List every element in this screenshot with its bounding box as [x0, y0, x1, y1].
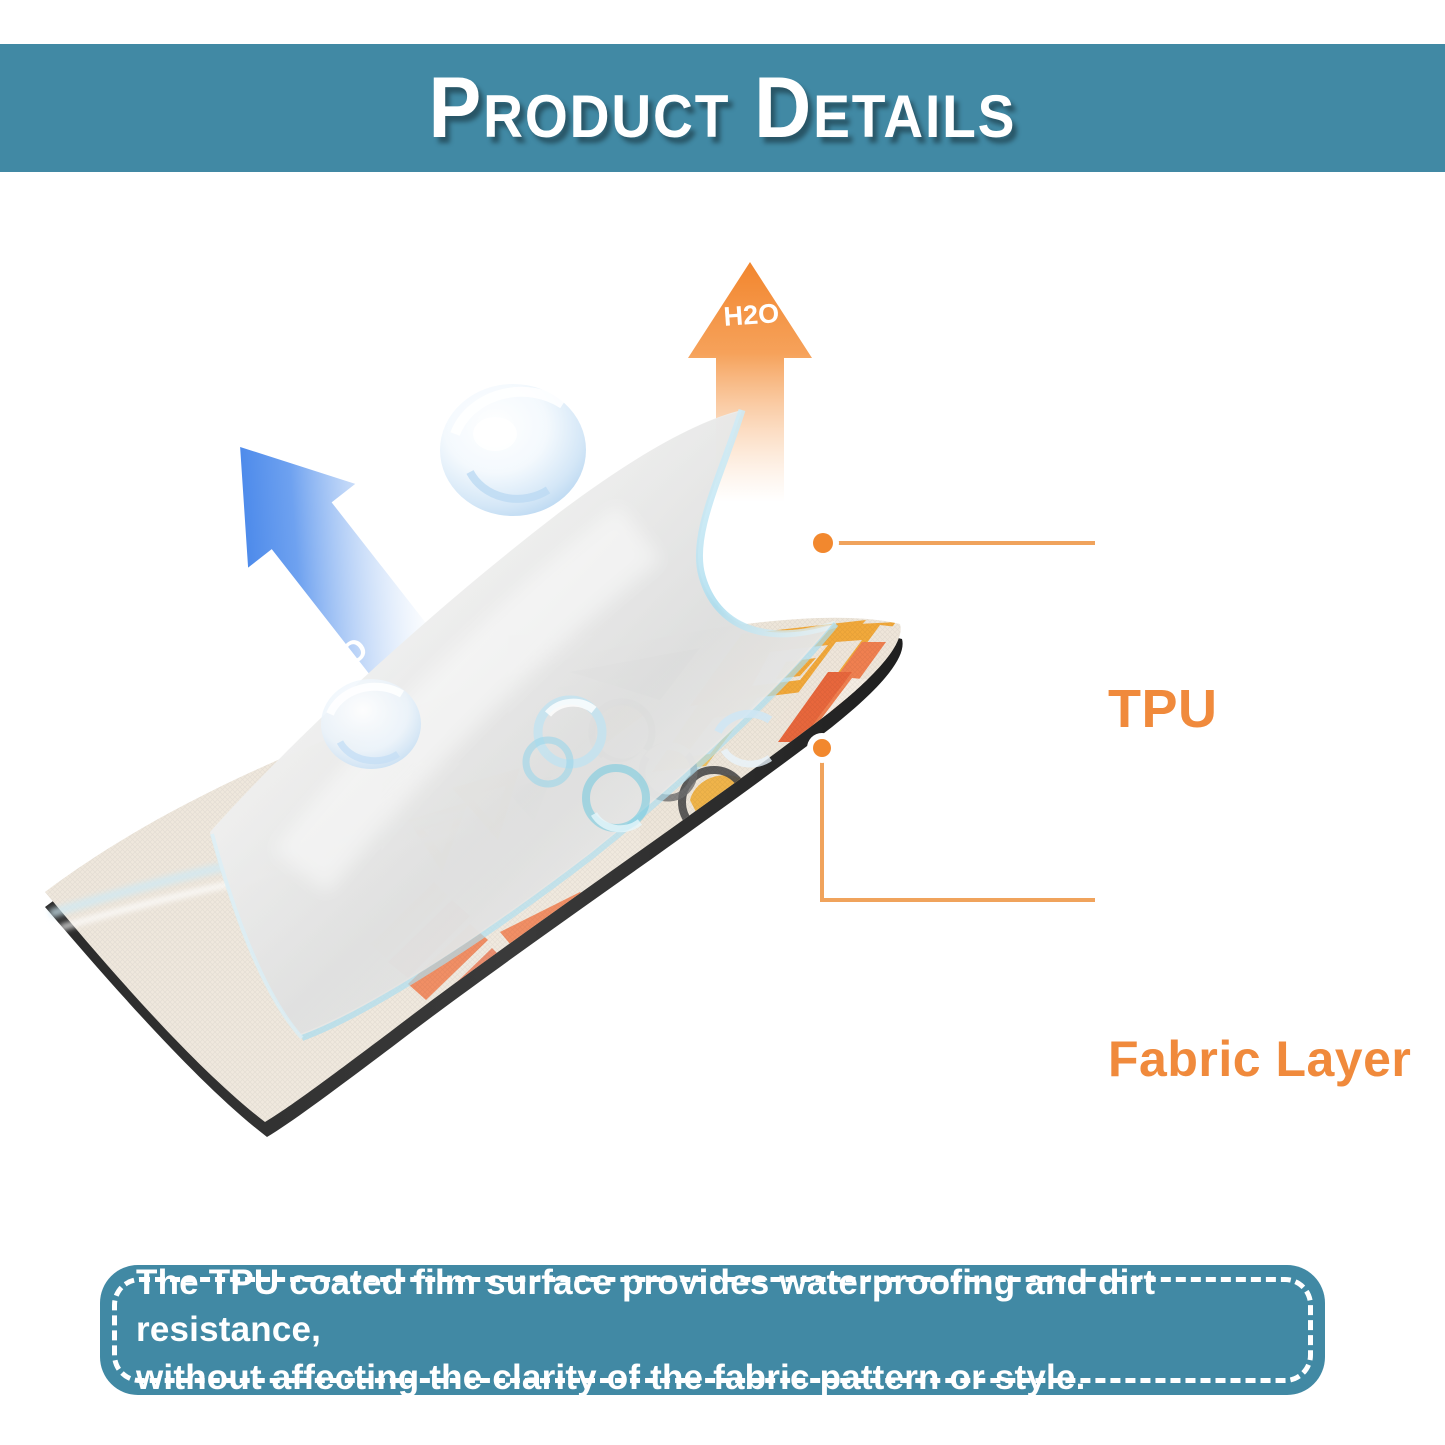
- water-droplet-medium: [321, 679, 421, 769]
- tpu-callout-leader: [807, 527, 1095, 559]
- callout-label-tpu: TPU: [1108, 682, 1218, 736]
- caption-line-1: The TPU coated film surface provides wat…: [136, 1259, 1289, 1354]
- vapor-arrow-text: H2O: [723, 298, 780, 332]
- fabric-callout-leader: [807, 733, 1095, 900]
- page-title: Product Details: [429, 65, 1017, 151]
- header-band: Product Details: [0, 44, 1445, 172]
- caption-box: The TPU coated film surface provides wat…: [100, 1265, 1325, 1395]
- callout-label-fabric: Fabric Layer: [1108, 1034, 1411, 1084]
- water-droplet-large: [440, 384, 586, 516]
- caption-text: The TPU coated film surface provides wat…: [136, 1259, 1289, 1401]
- caption-line-2: without affecting the clarity of the fab…: [136, 1354, 1289, 1401]
- product-illustration: H2O H2O: [0, 172, 1445, 1247]
